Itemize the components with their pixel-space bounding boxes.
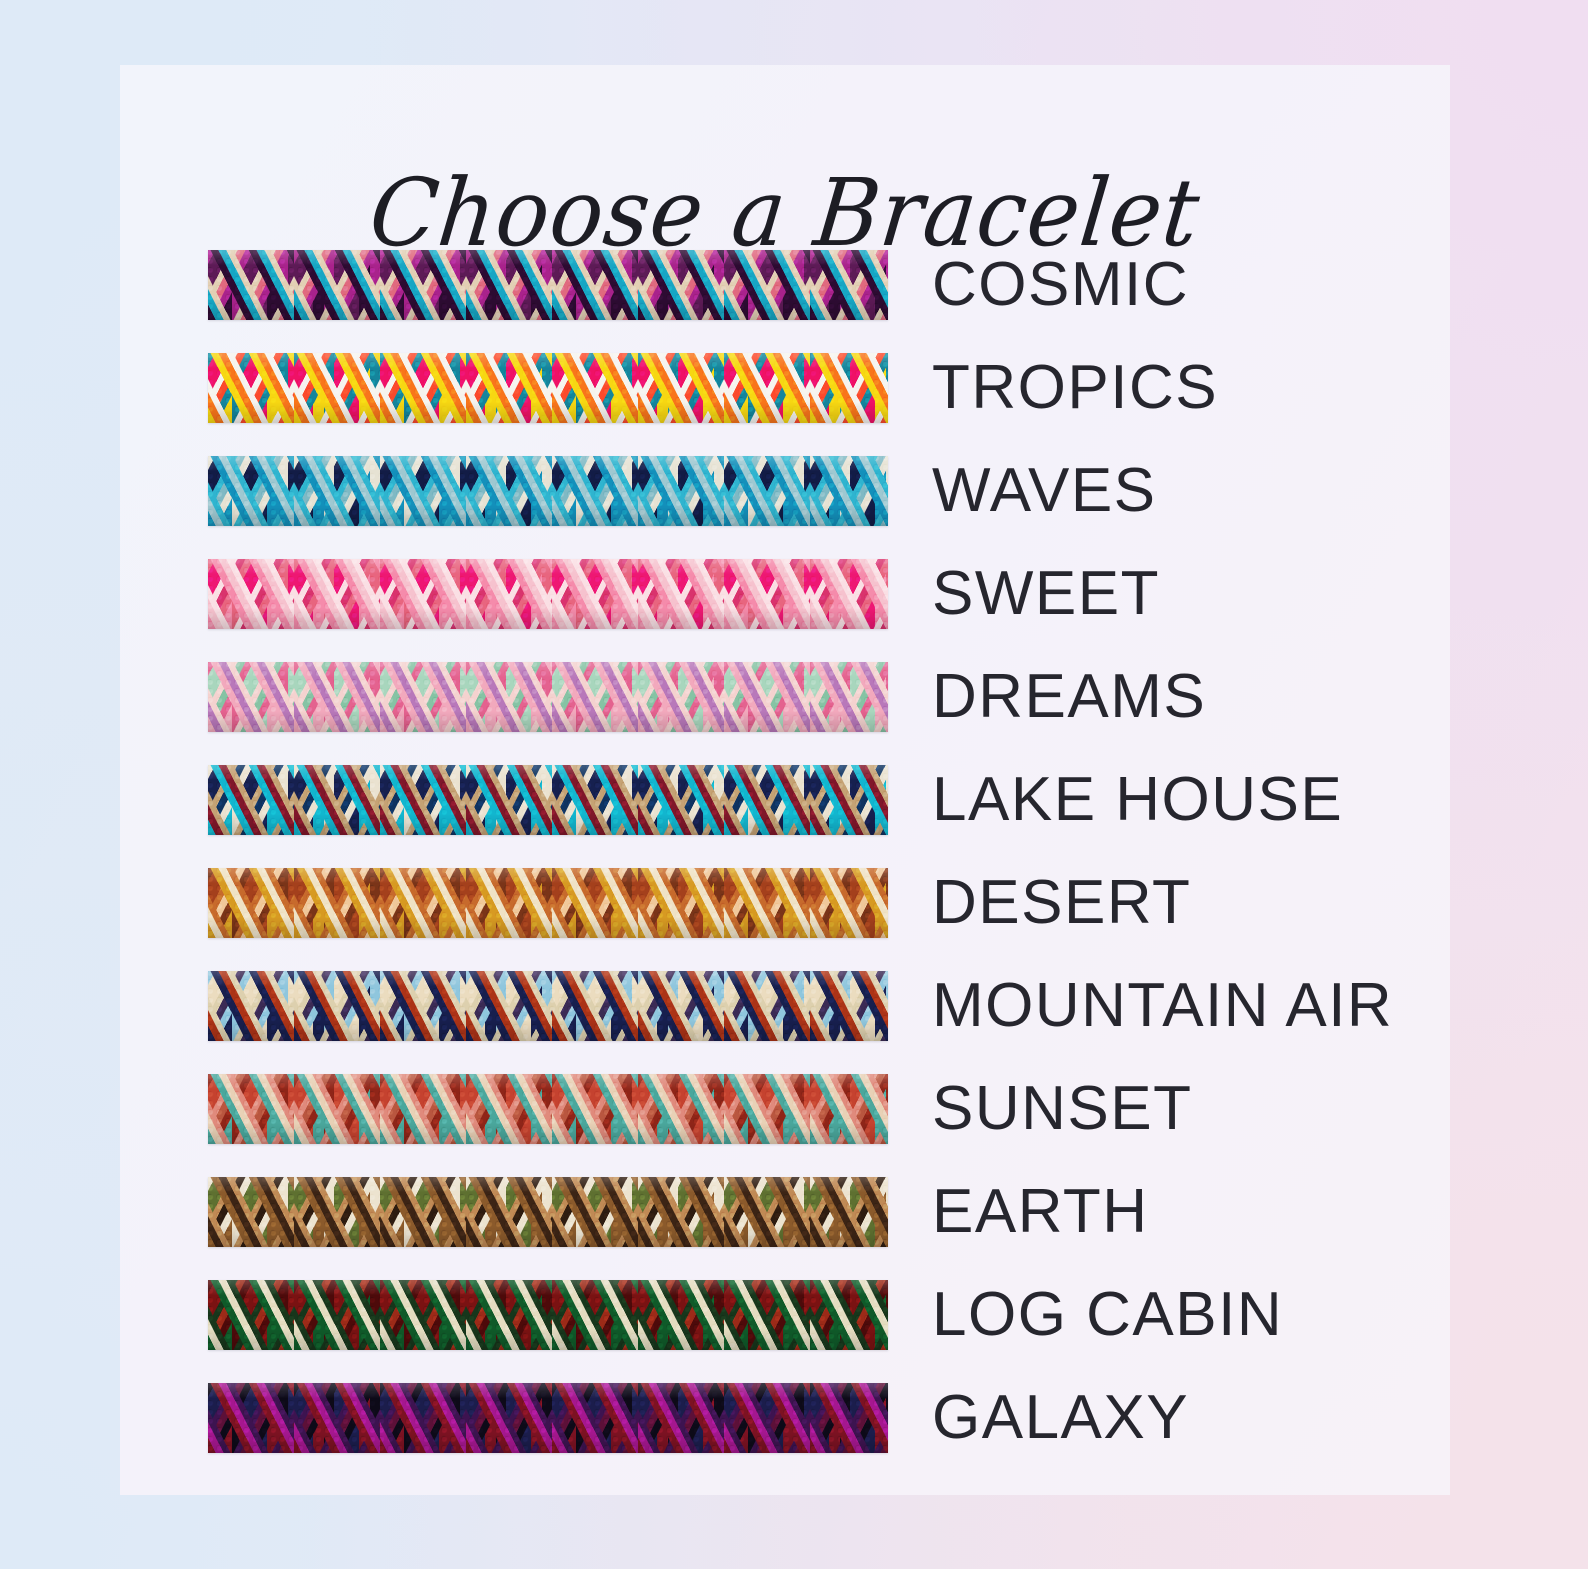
- bracelet-swatch[interactable]: [208, 250, 888, 320]
- swatch-shading: [208, 456, 888, 526]
- bracelet-swatch[interactable]: [208, 559, 888, 629]
- bracelet-swatch[interactable]: [208, 1280, 888, 1350]
- swatch-shading: [208, 662, 888, 732]
- swatch-shading: [208, 1383, 888, 1453]
- swatch-shading: [208, 971, 888, 1041]
- bracelet-swatch[interactable]: [208, 1074, 888, 1144]
- bracelet-label: GALAXY: [932, 1387, 1189, 1449]
- bracelet-label: EARTH: [932, 1181, 1149, 1243]
- swatch-shading: [208, 1074, 888, 1144]
- bracelet-swatch[interactable]: [208, 971, 888, 1041]
- bracelet-label: LOG CABIN: [932, 1284, 1283, 1346]
- poster-background: Choose a Bracelet COSMICTROPICSWAVESSWEE…: [0, 0, 1588, 1569]
- poster-card: Choose a Bracelet COSMICTROPICSWAVESSWEE…: [120, 65, 1450, 1495]
- bracelet-swatch[interactable]: [208, 456, 888, 526]
- bracelet-list: COSMICTROPICSWAVESSWEETDREAMSLAKE HOUSED…: [120, 233, 1450, 1469]
- bracelet-swatch[interactable]: [208, 662, 888, 732]
- bracelet-label: MOUNTAIN AIR: [932, 975, 1393, 1037]
- swatch-shading: [208, 1177, 888, 1247]
- swatch-shading: [208, 1280, 888, 1350]
- bracelet-label: DREAMS: [932, 666, 1206, 728]
- bracelet-option-galaxy[interactable]: GALAXY: [120, 1366, 1450, 1469]
- bracelet-option-tropics[interactable]: TROPICS: [120, 336, 1450, 439]
- swatch-shading: [208, 868, 888, 938]
- bracelet-option-lake-house[interactable]: LAKE HOUSE: [120, 748, 1450, 851]
- swatch-shading: [208, 250, 888, 320]
- bracelet-option-cosmic[interactable]: COSMIC: [120, 233, 1450, 336]
- bracelet-option-earth[interactable]: EARTH: [120, 1160, 1450, 1263]
- bracelet-option-waves[interactable]: WAVES: [120, 439, 1450, 542]
- bracelet-label: DESERT: [932, 872, 1191, 934]
- bracelet-label: SUNSET: [932, 1078, 1192, 1140]
- bracelet-label: TROPICS: [932, 357, 1218, 419]
- swatch-shading: [208, 353, 888, 423]
- swatch-shading: [208, 559, 888, 629]
- bracelet-option-sunset[interactable]: SUNSET: [120, 1057, 1450, 1160]
- bracelet-option-log-cabin[interactable]: LOG CABIN: [120, 1263, 1450, 1366]
- bracelet-swatch[interactable]: [208, 353, 888, 423]
- bracelet-swatch[interactable]: [208, 868, 888, 938]
- bracelet-option-dreams[interactable]: DREAMS: [120, 645, 1450, 748]
- bracelet-option-mountain-air[interactable]: MOUNTAIN AIR: [120, 954, 1450, 1057]
- bracelet-label: COSMIC: [932, 254, 1189, 316]
- bracelet-swatch[interactable]: [208, 765, 888, 835]
- bracelet-swatch[interactable]: [208, 1383, 888, 1453]
- bracelet-label: WAVES: [932, 460, 1157, 522]
- bracelet-label: SWEET: [932, 563, 1160, 625]
- bracelet-swatch[interactable]: [208, 1177, 888, 1247]
- bracelet-label: LAKE HOUSE: [932, 769, 1343, 831]
- bracelet-option-sweet[interactable]: SWEET: [120, 542, 1450, 645]
- bracelet-option-desert[interactable]: DESERT: [120, 851, 1450, 954]
- swatch-shading: [208, 765, 888, 835]
